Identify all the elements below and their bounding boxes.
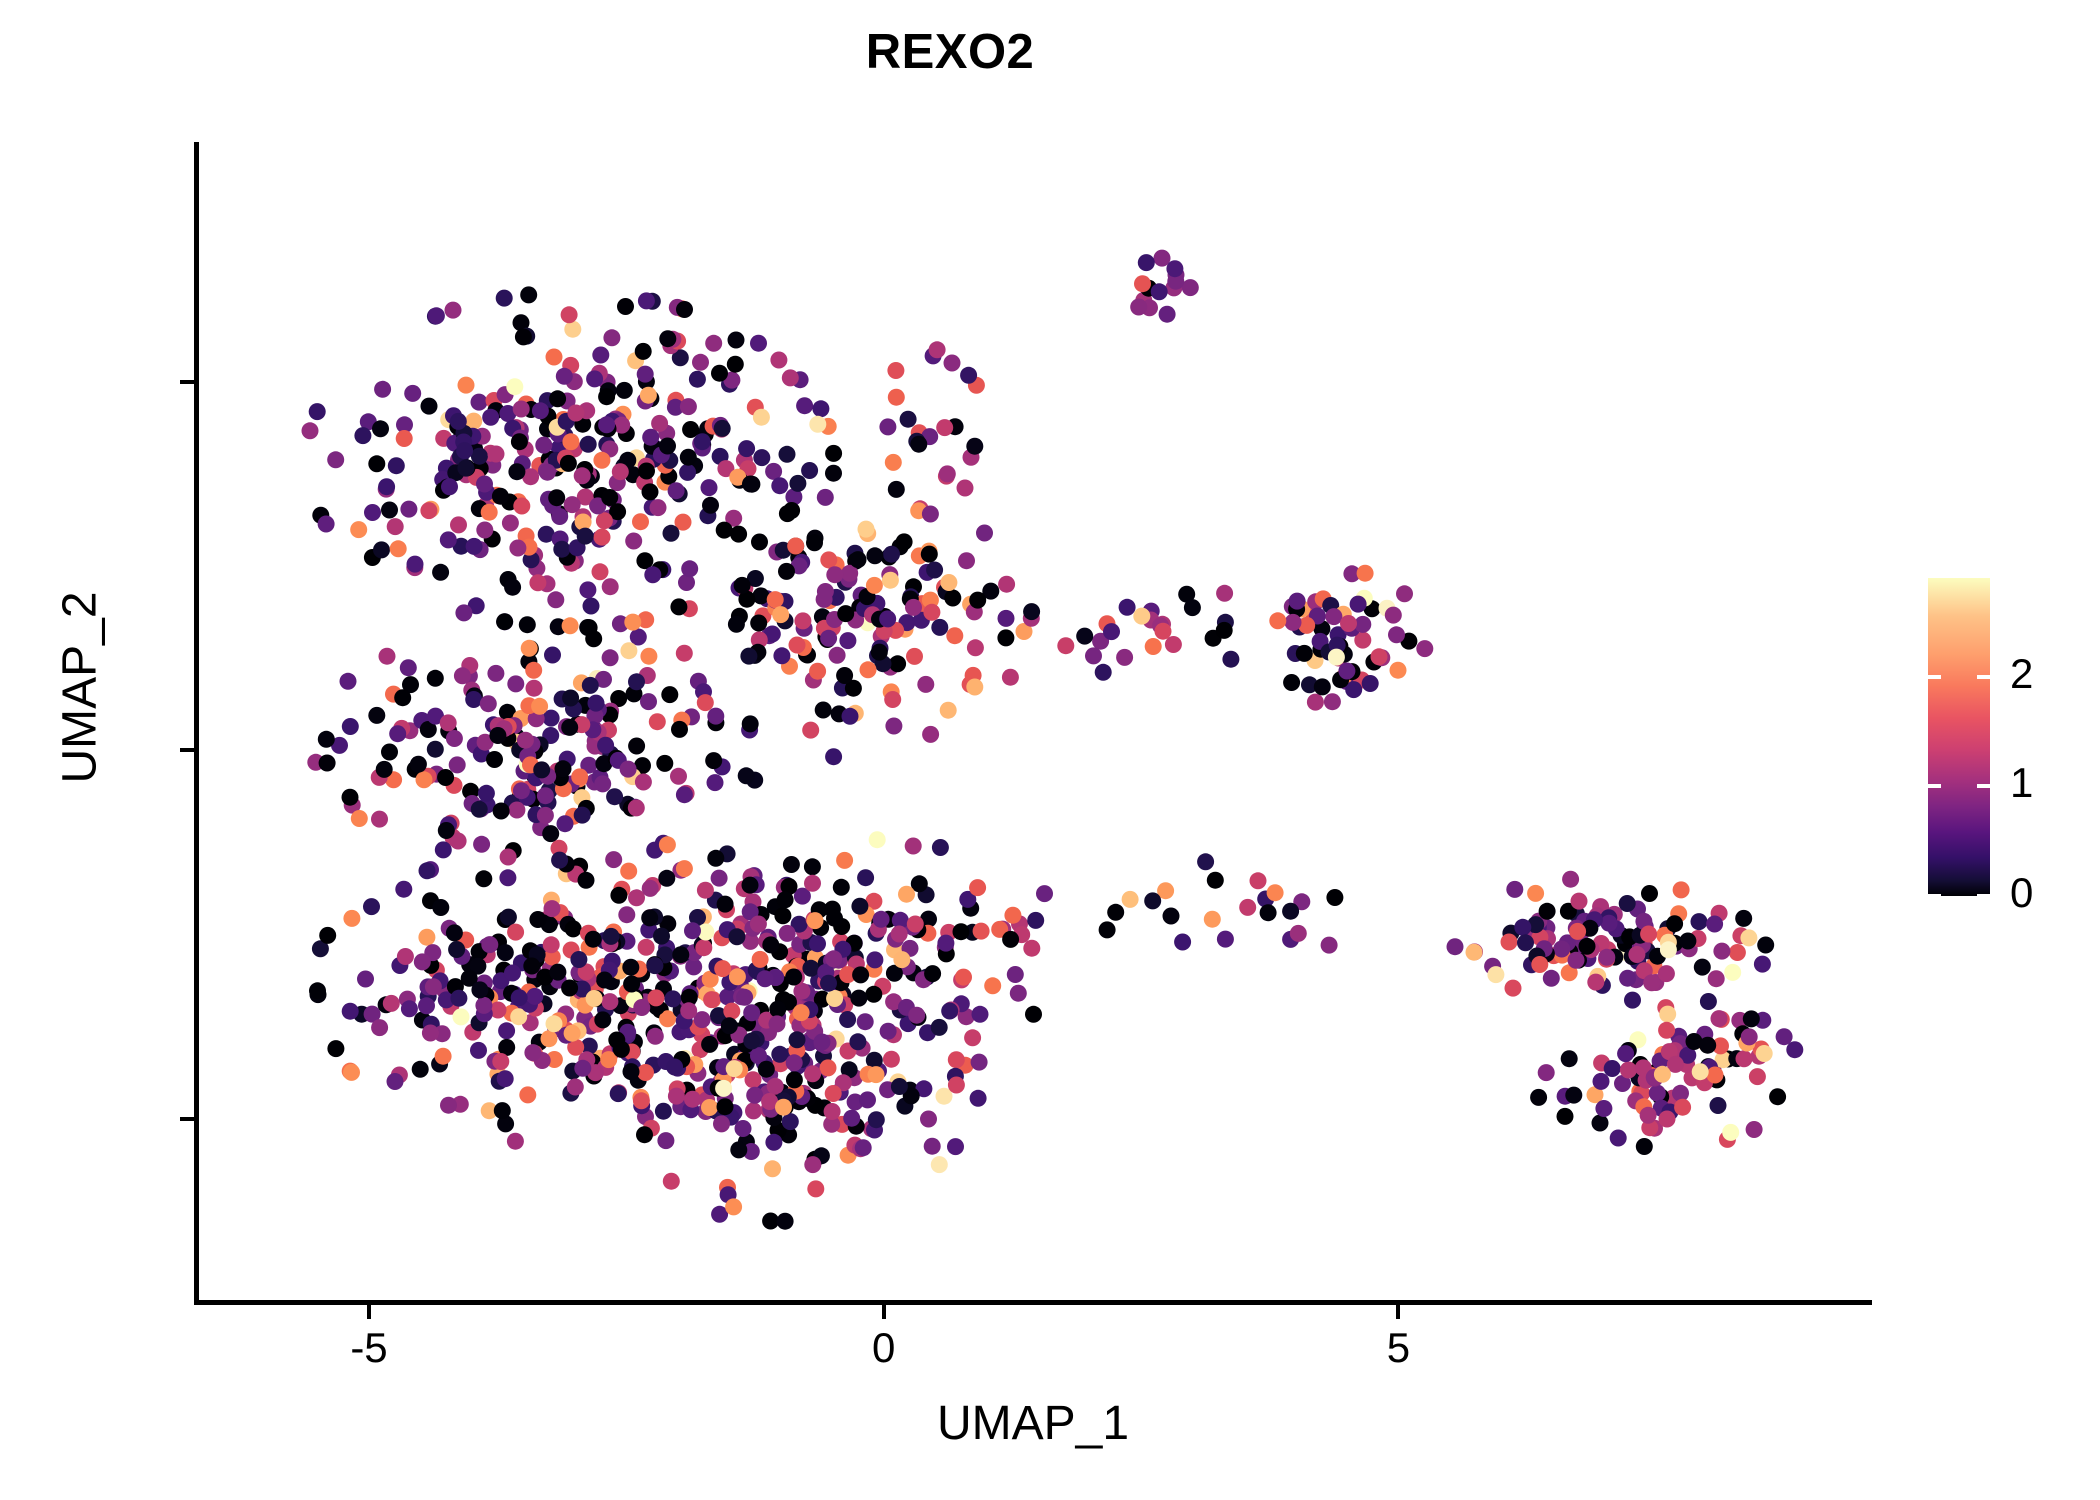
scatter-point [738,1047,755,1064]
scatter-point [528,769,545,786]
scatter-point [1531,956,1548,973]
scatter-point [804,1156,821,1173]
scatter-point [529,574,546,591]
x-tick-mark [367,1305,371,1319]
scatter-point [624,1043,641,1060]
scatter-point [575,985,592,1002]
scatter-point [307,754,324,771]
scatter-point [982,583,999,600]
scatter-point [694,936,711,953]
scatter-point [765,1134,782,1151]
scatter-point [626,685,643,702]
scatter-point [672,948,689,965]
scatter-point [865,986,882,1003]
scatter-point [1216,622,1233,639]
scatter-point [769,1001,786,1018]
scatter-point [693,1026,710,1043]
scatter-point [812,400,829,417]
scatter-point [730,526,747,543]
scatter-point [826,611,843,628]
scatter-point [513,710,530,727]
scatter-point [729,469,746,486]
scatter-point [632,513,649,530]
scatter-point [1624,992,1641,1009]
scatter-point [506,717,523,734]
scatter-point [826,910,843,927]
scatter-point [747,1014,764,1031]
scatter-point [422,892,439,909]
scatter-point [594,529,611,546]
scatter-point [846,935,863,952]
scatter-point [549,763,566,780]
scatter-point [644,438,661,455]
scatter-point [893,951,910,968]
scatter-point [1133,608,1150,625]
scatter-point [567,1039,584,1056]
scatter-point [804,1065,821,1082]
scatter-point [518,528,535,545]
scatter-point [699,420,716,437]
scatter-point [632,1089,649,1106]
scatter-point [331,737,348,754]
scatter-point [799,1090,816,1107]
scatter-point [642,909,659,926]
scatter-point [769,1015,786,1032]
scatter-point [743,868,760,885]
scatter-point [886,965,903,982]
scatter-point [519,1086,536,1103]
scatter-point [563,942,580,959]
scatter-point [719,1179,736,1196]
scatter-point [1658,1022,1675,1039]
scatter-point [597,1001,614,1018]
scatter-point [1282,903,1299,920]
scatter-point [1165,279,1182,296]
scatter-point [777,1213,794,1230]
scatter-point [434,471,451,488]
scatter-point [1002,931,1019,948]
scatter-point [1530,913,1547,930]
scatter-point [1598,949,1615,966]
scatter-point [859,525,876,542]
scatter-point [860,1066,877,1083]
scatter-point [364,549,381,566]
colorbar-tick-label: 1 [2010,759,2033,807]
scatter-point [340,673,357,690]
scatter-point [520,984,537,1001]
scatter-point [820,418,837,435]
scatter-point [628,673,645,690]
scatter-point [599,374,616,391]
scatter-point [1659,1111,1676,1128]
scatter-point [715,1080,732,1097]
scatter-point [1145,638,1162,655]
scatter-point [642,429,659,446]
scatter-point [859,588,876,605]
scatter-point [1099,921,1116,938]
scatter-point [889,655,906,672]
scatter-point [428,307,445,324]
scatter-point [796,923,813,940]
scatter-point [562,1085,579,1102]
scatter-point [1653,1100,1670,1117]
scatter-point [601,489,618,506]
scatter-point [556,368,573,385]
scatter-point [438,460,455,477]
scatter-point [957,1057,974,1074]
scatter-point [1338,663,1355,680]
scatter-point [624,614,641,631]
scatter-point [708,1103,725,1120]
scatter-point [908,1007,925,1024]
scatter-point [923,604,940,621]
scatter-point [825,748,842,765]
scatter-point [644,499,661,516]
scatter-point [821,592,838,609]
scatter-point [654,561,671,578]
scatter-point [400,501,417,518]
scatter-point [1646,1070,1663,1087]
scatter-point [371,769,388,786]
scatter-point [962,676,979,693]
scatter-point [1004,907,1021,924]
scatter-point [825,1085,842,1102]
scatter-point [1635,1098,1652,1115]
scatter-point [636,1126,653,1143]
scatter-point [559,549,576,566]
scatter-point [497,386,514,403]
scatter-point [726,1046,743,1063]
scatter-point [965,667,982,684]
scatter-point [595,755,612,772]
scatter-point [389,725,406,742]
scatter-point [793,554,810,571]
scatter-point [1447,938,1464,955]
scatter-point [769,1008,786,1025]
scatter-point [655,835,672,852]
scatter-point [542,913,559,930]
scatter-point [828,1031,845,1048]
scatter-point [868,925,885,942]
scatter-point [911,875,928,892]
scatter-point [510,493,527,510]
scatter-point [1710,1097,1727,1114]
scatter-point [479,796,496,813]
scatter-point [395,881,412,898]
scatter-point [533,761,550,778]
scatter-point [1640,926,1657,943]
scatter-point [556,427,573,444]
scatter-point [570,951,587,968]
scatter-point [519,748,536,765]
scatter-point [1553,941,1570,958]
scatter-point [747,399,764,416]
scatter-point [969,592,986,609]
scatter-point [689,371,706,388]
scatter-point [584,721,601,738]
scatter-point [1400,633,1417,650]
scatter-point [1645,957,1662,974]
scatter-point [452,430,469,447]
scatter-point [396,430,413,447]
scatter-point [793,1088,810,1105]
scatter-point [896,1098,913,1115]
scatter-point [495,962,512,979]
scatter-point [471,981,488,998]
scatter-point [921,543,938,560]
scatter-point [926,562,943,579]
scatter-point [849,1033,866,1050]
scatter-point [817,583,834,600]
scatter-point [1595,1100,1612,1117]
scatter-point [837,605,854,622]
scatter-point [866,577,883,594]
scatter-point [592,563,609,580]
scatter-point [905,838,922,855]
scatter-point [428,962,445,979]
scatter-point [1608,920,1625,937]
scatter-point [669,1060,686,1077]
scatter-point [829,967,846,984]
scatter-point [902,1082,919,1099]
scatter-point [902,940,919,957]
scatter-point [1637,918,1654,935]
scatter-point [431,1056,448,1073]
scatter-point [594,1011,611,1028]
scatter-point [876,622,893,639]
scatter-point [781,878,798,895]
scatter-point [1343,620,1360,637]
scatter-point [449,418,466,435]
scatter-point [593,968,610,985]
scatter-point [677,944,694,961]
scatter-point [580,466,597,483]
scatter-point [1705,1062,1722,1079]
scatter-point [963,449,980,466]
scatter-point [739,984,756,1001]
scatter-point [806,911,823,928]
scatter-point [539,421,556,438]
scatter-point [902,591,919,608]
scatter-point [1016,623,1033,640]
scatter-point [823,975,840,992]
scatter-point [1154,250,1171,267]
scatter-point [494,1102,511,1119]
scatter-point [1624,948,1641,965]
scatter-point [725,1198,742,1215]
scatter-point [476,1005,493,1022]
scatter-point [618,1038,635,1055]
scatter-point [794,612,811,629]
scatter-point [847,949,864,966]
scatter-point [1579,938,1596,955]
scatter-point [573,716,590,733]
scatter-point [1092,633,1109,650]
scatter-point [468,469,485,486]
scatter-point [707,714,724,731]
scatter-point [702,971,719,988]
scatter-point [1335,669,1352,686]
scatter-point [524,961,541,978]
scatter-point [490,1051,507,1068]
scatter-point [717,896,734,913]
scatter-point [1390,662,1407,679]
scatter-point [1260,904,1277,921]
scatter-point [1329,637,1346,654]
scatter-point [887,362,904,379]
scatter-point [510,998,527,1015]
scatter-point [918,969,935,986]
scatter-point [1343,565,1360,582]
scatter-point [1621,928,1638,945]
scatter-point [612,1039,629,1056]
scatter-point [659,915,676,932]
scatter-point [711,365,728,382]
scatter-point [1576,913,1593,930]
scatter-point [773,1084,790,1101]
scatter-point [578,472,595,489]
scatter-point [694,433,711,450]
scatter-point [717,460,734,477]
scatter-point [898,999,915,1016]
scatter-point [1619,895,1636,912]
scatter-point [902,588,919,605]
scatter-point [1711,905,1728,922]
scatter-point [1694,959,1711,976]
scatter-point [652,1001,669,1018]
scatter-point [673,712,690,729]
scatter-point [682,985,699,1002]
scatter-point [1036,885,1053,902]
scatter-point [719,988,736,1005]
scatter-point [528,710,545,727]
scatter-point [1593,935,1610,952]
scatter-point [714,929,731,946]
scatter-point [529,946,546,963]
scatter-point [772,606,789,623]
scatter-point [809,416,826,433]
scatter-point [587,733,604,750]
scatter-point [765,1109,782,1126]
scatter-point [1568,952,1585,969]
scatter-point [906,648,923,665]
scatter-point [574,416,591,433]
scatter-point [1239,899,1256,916]
scatter-point [1563,942,1580,959]
scatter-point [509,540,526,557]
scatter-point [646,439,663,456]
scatter-point [540,794,557,811]
scatter-point [440,723,457,740]
y-tick-mark [180,380,194,384]
scatter-point [839,966,856,983]
scatter-point [434,1025,451,1042]
scatter-point [445,829,462,846]
scatter-point [694,440,711,457]
scatter-point [1250,872,1267,889]
scatter-point [589,1016,606,1033]
scatter-point [513,498,530,515]
scatter-point [1345,681,1362,698]
scatter-point [637,993,654,1010]
scatter-point [741,722,758,739]
scatter-point [1143,603,1160,620]
scatter-point [943,1002,960,1019]
scatter-point [780,1089,797,1106]
scatter-point [984,977,1001,994]
scatter-point [1586,911,1603,928]
scatter-point [806,1151,823,1168]
scatter-point [558,865,575,882]
scatter-point [1647,974,1664,991]
scatter-point [1336,646,1353,663]
scatter-point [772,975,789,992]
scatter-point [1631,1083,1648,1100]
scatter-point [562,357,579,374]
scatter-point [511,742,528,759]
scatter-point [676,301,693,318]
scatter-point [503,1005,520,1022]
scatter-point [1365,654,1382,671]
scatter-point [563,776,580,793]
scatter-point [567,553,584,570]
scatter-point [732,1052,749,1069]
scatter-point [721,376,738,393]
scatter-point [657,457,674,474]
scatter-point [917,676,934,693]
scatter-point [1222,651,1239,668]
scatter-point [729,968,746,985]
scatter-point [1769,1088,1786,1105]
scatter-point [680,398,697,415]
scatter-point [746,1087,763,1104]
scatter-point [640,387,657,404]
scatter-point [490,717,507,734]
scatter-point [518,396,535,413]
scatter-point [1598,951,1615,968]
scatter-point [905,964,922,981]
scatter-point [780,994,797,1011]
scatter-point [344,797,361,814]
scatter-point [789,1010,806,1027]
scatter-point [1617,1045,1634,1062]
scatter-point [551,840,568,857]
scatter-point [466,687,483,704]
scatter-point [689,1065,706,1082]
scatter-point [770,1122,787,1139]
scatter-point [678,1058,695,1075]
scatter-point [936,419,953,436]
scatter-point [817,489,834,506]
scatter-point [608,933,625,950]
scatter-point [566,441,583,458]
scatter-point [852,1140,869,1157]
scatter-point [723,1003,740,1020]
scatter-point [657,1132,674,1149]
scatter-point [1330,626,1347,643]
scatter-point [626,1034,643,1051]
scatter-point [962,596,979,613]
scatter-point [585,1068,602,1085]
scatter-point [785,488,802,505]
scatter-point [743,1004,760,1021]
scatter-point [1554,947,1571,964]
scatter-point [477,497,494,514]
scatter-point [1618,944,1635,961]
scatter-point [309,982,326,999]
scatter-point [458,466,475,483]
scatter-point [888,389,905,406]
